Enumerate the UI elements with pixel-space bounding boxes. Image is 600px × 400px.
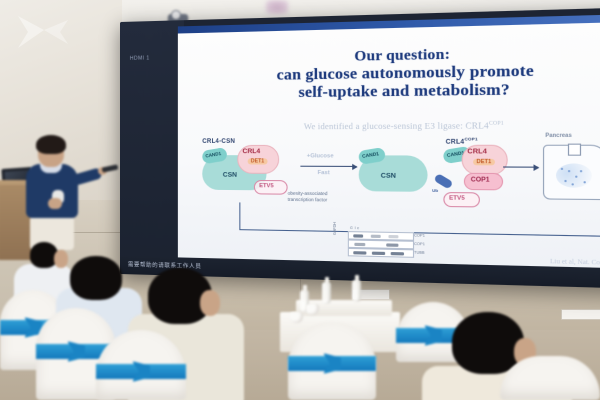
crl4-cop1-sup: COP1	[464, 136, 477, 141]
blot-row-label: COP1	[414, 233, 425, 237]
islet-cells	[556, 163, 592, 187]
blot-axis-label: GAPDH	[333, 222, 337, 235]
transition-arrow	[300, 166, 356, 167]
chair-sash	[96, 364, 186, 379]
slide-canvas: Our question: can glucose autonomously p…	[178, 21, 600, 273]
cop1-blob: COP1	[464, 173, 503, 191]
slide-subtitle-text: We identified a glucose-sensing E3 ligas…	[304, 121, 489, 131]
wall-sign-2	[561, 309, 600, 320]
slide-subtitle-sup: COP1	[489, 121, 504, 127]
slide-title: Our question: can glucose autonomously p…	[178, 42, 600, 104]
tea-cup	[306, 304, 319, 315]
screen-dark-margin: HDMI 1	[120, 20, 184, 276]
blot-header: Glc	[350, 226, 361, 230]
presentation-screen: HDMI 1 Our question: can glucose autonom…	[120, 22, 600, 274]
crl4-blob-right: CRL4 DET1	[462, 145, 508, 175]
det1-label-right: DET1	[473, 159, 495, 166]
etv5-caption: obesity-associated transcription factor	[288, 191, 328, 203]
conference-photo: HDMI 1 Our question: can glucose autonom…	[0, 0, 600, 400]
etv5-label-left: ETV5	[259, 183, 273, 189]
arrow-label-fast: Fast	[318, 170, 330, 176]
water-bottle	[322, 282, 331, 304]
arrow-label-glucose: +Glucose	[307, 153, 334, 159]
western-blot-panel: Glc GAPDH COP1 COP1	[333, 231, 423, 258]
diagram-label-crl4-csn: CRL4-CSN	[202, 139, 235, 145]
det1-label-left: DET1	[248, 158, 268, 164]
crl4-blob-left: CRL4 DET1	[237, 145, 279, 174]
etv5-label-right: ETV5	[449, 195, 465, 202]
crl4-label-right: CRL4	[467, 148, 487, 156]
arrow-to-pancreas	[503, 166, 538, 167]
speaker-hair	[36, 135, 66, 154]
venue-logo-icon	[14, 10, 72, 54]
cop1-label: COP1	[471, 177, 490, 184]
etv5-caption-line-2: transcription factor	[288, 196, 328, 202]
speaker-hand-holding-mic	[48, 198, 62, 209]
slide-subtitle: We identified a glucose-sensing E3 ligas…	[178, 120, 600, 132]
tea-cup	[290, 312, 303, 323]
etv5-caption-line-1: obesity-associated	[288, 191, 328, 197]
water-bottle	[352, 280, 361, 302]
crl4-cop1-text: CRL4	[446, 139, 465, 145]
pancreas-illustration	[543, 145, 600, 201]
speaker	[14, 138, 100, 250]
pancreas-label: Pancreas	[545, 133, 571, 140]
blot-row-label: COP1	[414, 242, 425, 246]
csn-label-right: CSN	[381, 172, 396, 180]
screen-osd-label: HDMI 1	[130, 55, 150, 61]
blot-row-label: TUBB	[414, 250, 424, 255]
crl4-label-left: CRL4	[242, 148, 260, 155]
blot-row	[348, 248, 414, 258]
csn-label-left: CSN	[223, 172, 237, 179]
pathway-diagram: CRL4-CSN CSN CAND1 CRL4 DET1 ETV5 obesit…	[178, 133, 600, 265]
chair-sash	[288, 356, 376, 371]
ubiquitin-label: Ub	[432, 188, 438, 193]
ceiling-decor	[266, 0, 288, 14]
pancreas-inset-box	[568, 144, 581, 156]
etv5-oval-left: ETV5	[254, 180, 288, 195]
